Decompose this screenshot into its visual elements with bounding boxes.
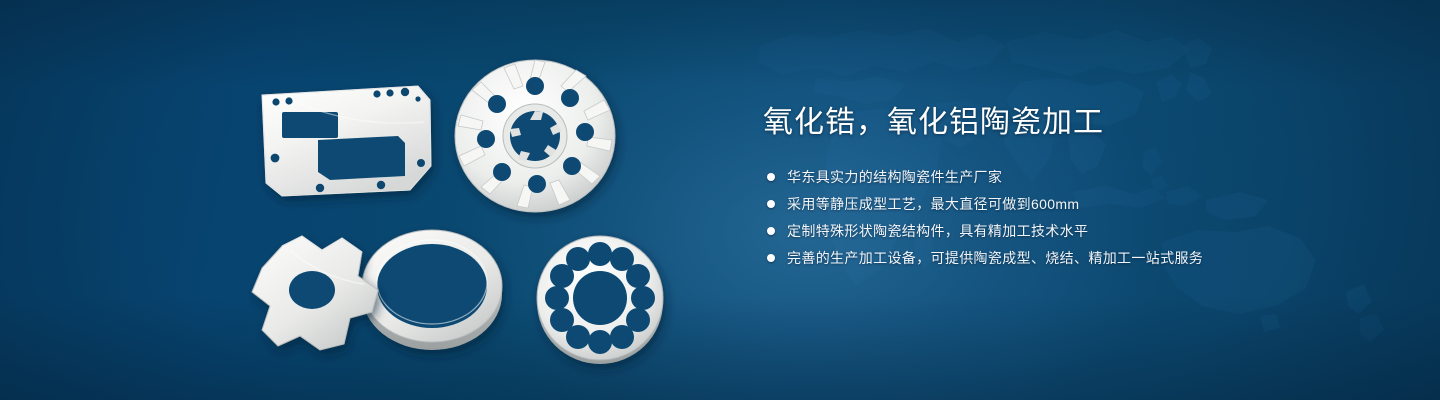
bullet-dot-icon (767, 254, 775, 262)
list-item: 采用等静压成型工艺，最大直径可做到600mm (763, 195, 1403, 213)
ceramic-impeller-disc (455, 60, 615, 212)
list-item: 定制特殊形状陶瓷结构件，具有精加工技术水平 (763, 222, 1403, 240)
feature-text: 华东具实力的结构陶瓷件生产厂家 (787, 168, 1002, 186)
product-photo-cluster (0, 0, 740, 400)
ceramic-ring (362, 230, 502, 350)
feature-text: 定制特殊形状陶瓷结构件，具有精加工技术水平 (787, 222, 1088, 240)
feature-text: 完善的生产加工设备，可提供陶瓷成型、烧结、精加工一站式服务 (787, 249, 1203, 267)
list-item: 华东具实力的结构陶瓷件生产厂家 (763, 168, 1403, 186)
feature-list: 华东具实力的结构陶瓷件生产厂家 采用等静压成型工艺，最大直径可做到600mm 定… (763, 168, 1403, 267)
page-title: 氧化锆，氧化铝陶瓷加工 (763, 104, 1403, 142)
bullet-dot-icon (767, 227, 775, 235)
ceramic-cross-plate (252, 236, 378, 350)
ceramic-perforated-disc (537, 236, 663, 364)
list-item: 完善的生产加工设备，可提供陶瓷成型、烧结、精加工一站式服务 (763, 249, 1403, 267)
ceramic-base-plate (262, 86, 431, 196)
bullet-dot-icon (767, 173, 775, 181)
banner-copy: 氧化锆，氧化铝陶瓷加工 华东具实力的结构陶瓷件生产厂家 采用等静压成型工艺，最大… (763, 104, 1403, 276)
bullet-dot-icon (767, 200, 775, 208)
promo-banner: 氧化锆，氧化铝陶瓷加工 华东具实力的结构陶瓷件生产厂家 采用等静压成型工艺，最大… (0, 0, 1440, 400)
feature-text: 采用等静压成型工艺，最大直径可做到600mm (787, 195, 1079, 213)
